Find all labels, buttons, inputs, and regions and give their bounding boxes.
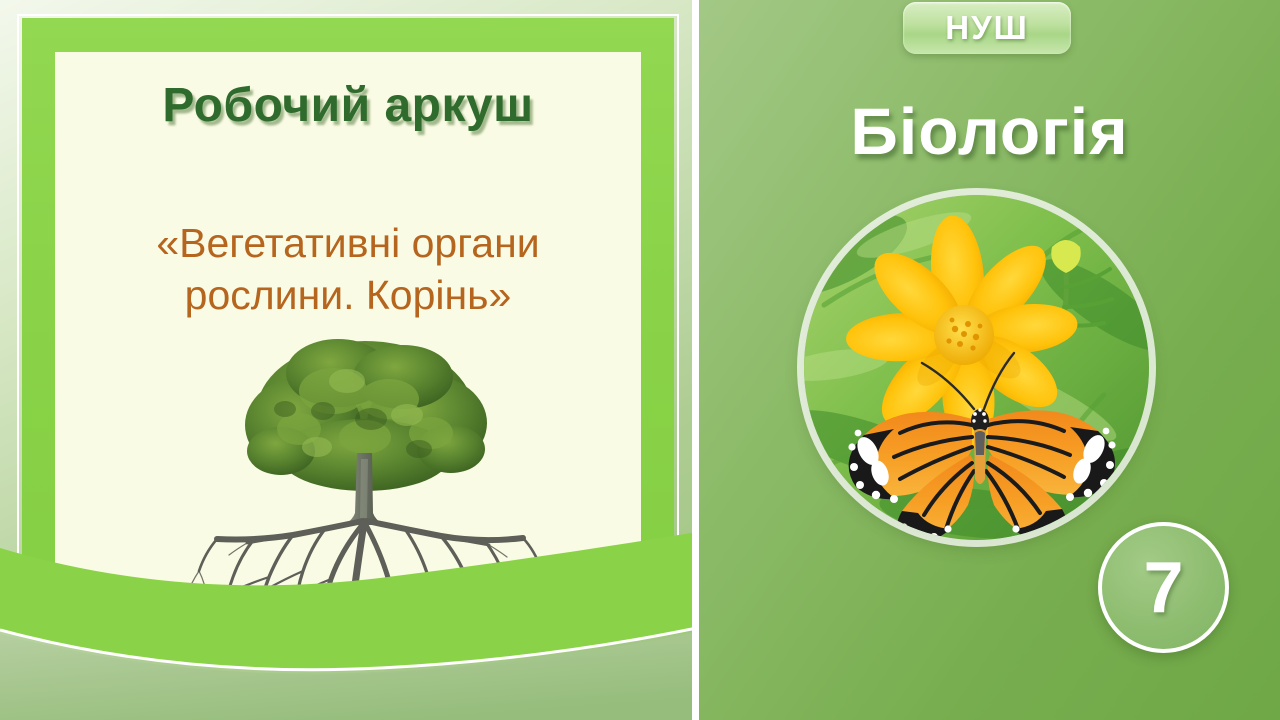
worksheet-subtitle: «Вегетативні органи рослини. Корінь» [70,218,626,321]
grade-badge: 7 [1098,522,1229,653]
worksheet-title: Робочий аркуш [55,78,641,133]
grade-number: 7 [1143,552,1183,624]
butterfly-on-yellow-flower-photo [804,195,1149,540]
worksheet-panel: Робочий аркуш «Вегетативні органи рослин… [0,0,697,720]
subject-title: Біологія [699,93,1280,169]
worksheet-cover-slide: Робочий аркуш «Вегетативні органи рослин… [0,0,1280,720]
bottom-wave-decoration [0,510,697,720]
subject-panel: НУШ Біологія [699,0,1280,720]
nush-badge: НУШ [903,2,1071,54]
nush-badge-label: НУШ [945,9,1029,47]
panel-divider [692,0,699,720]
